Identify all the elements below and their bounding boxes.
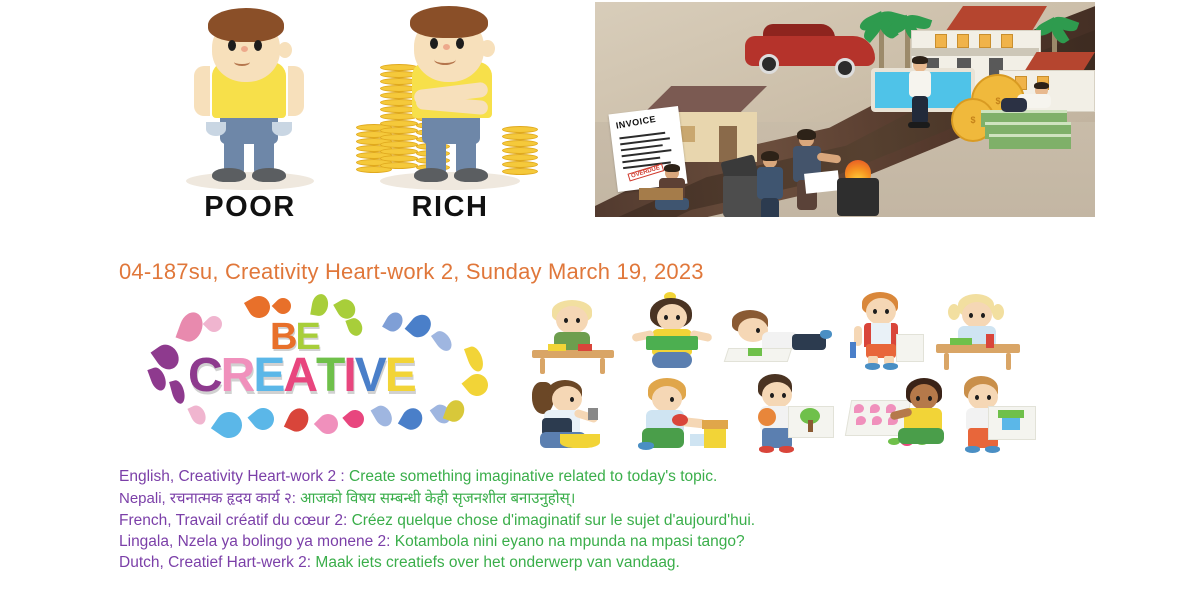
rich-shoe-left	[414, 168, 448, 182]
droplet-19	[284, 405, 312, 435]
poor-arm-right	[288, 66, 304, 116]
translation-line-french: French, Travail créatif du cœur 2: Créez…	[119, 510, 1119, 531]
language-label-french: French, Travail créatif du cœur 2:	[119, 512, 352, 529]
poor-hair	[208, 8, 284, 42]
droplet-20	[314, 410, 342, 438]
droplet-18	[248, 404, 279, 435]
bc-bot-letter-7: E	[385, 352, 415, 400]
droplet-10	[431, 328, 455, 354]
villa-window-1	[935, 34, 947, 48]
droplet-13	[169, 379, 187, 405]
droplet-1	[176, 309, 207, 345]
rich-label: RICH	[350, 191, 550, 224]
kid-top-5-table-craft	[936, 294, 1020, 370]
sentence-nepali: आजको विषय सम्बन्धी केही सृजनशील बनाउनुहो…	[300, 490, 575, 507]
translation-line-dutch: Dutch, Creatief Hart-werk 2: Maak iets c…	[119, 552, 1119, 573]
language-label-lingala: Lingala, Nzela ya bolingo ya monene 2:	[119, 533, 395, 550]
rich-eye-left	[430, 38, 438, 49]
sentence-dutch: Maak iets creatiefs over het onderwerp v…	[315, 554, 679, 571]
kid-bottom-4-paper-flowers	[848, 378, 944, 454]
rich-hair	[410, 6, 488, 38]
bc-bot-letter-5: I	[343, 352, 354, 400]
poor-figure: POOR	[150, 0, 350, 230]
droplet-16	[187, 403, 208, 427]
kid-bottom-1-cutting	[530, 378, 616, 454]
poor-shoe-right	[252, 168, 286, 182]
translation-line-english: English, Creativity Heart-work 2 : Creat…	[119, 466, 1119, 487]
car-wheel-rear	[835, 58, 855, 78]
poor-label: POOR	[150, 191, 350, 224]
bc-bot-letter-1: R	[221, 352, 254, 400]
droplet-23	[398, 404, 426, 433]
wooden-crate	[639, 188, 683, 200]
middle-illustration-row: BE CREATIVE	[0, 290, 1200, 460]
coin-stack-small-right	[502, 126, 538, 176]
language-label-english: English, Creativity Heart-work 2 :	[119, 468, 349, 485]
top-illustration-row: POOR	[0, 0, 1200, 232]
droplet-2	[203, 313, 226, 336]
droplet-4	[272, 295, 295, 318]
droplet-5	[310, 293, 330, 317]
bc-bot-letter-6: V	[355, 352, 385, 400]
poor-nose	[241, 46, 248, 52]
be-creative-graphic: BE CREATIVE	[140, 290, 520, 460]
oil-barrel	[837, 178, 879, 216]
poor-rich-illustration: POOR	[150, 0, 550, 230]
droplet-17	[211, 407, 247, 443]
droplet-22	[371, 402, 396, 429]
shack-door	[719, 126, 737, 162]
help-sign	[804, 170, 840, 193]
sentence-lingala: Kotambola nini eyano na mpunda na mpasi …	[395, 533, 745, 550]
poor-arm-left	[194, 66, 210, 116]
be-creative-word-bottom: CREATIVE	[188, 352, 415, 400]
poor-eye-left	[228, 40, 236, 51]
rich-eye-right	[456, 38, 464, 49]
poor-empty-pocket-right	[272, 122, 292, 136]
poor-eye-right	[254, 40, 262, 51]
translation-line-lingala: Lingala, Nzela ya bolingo ya monene 2: K…	[119, 531, 1119, 552]
villa-window-4	[1001, 34, 1013, 48]
kid-top-4-standing-drawing	[848, 290, 922, 370]
droplet-21	[342, 406, 367, 431]
rich-nose	[443, 44, 450, 50]
wealth-gap-illustration: $ $ INVOICE	[595, 2, 1095, 217]
droplet-15	[462, 370, 493, 401]
poor-empty-pocket-left	[206, 122, 226, 136]
page-root: POOR	[0, 0, 1200, 600]
rich-shoe-right	[454, 168, 488, 182]
bc-bot-letter-0: C	[188, 352, 221, 400]
villa-window-2	[957, 34, 969, 48]
kids-crafts-illustration	[530, 290, 1020, 460]
language-label-nepali: Nepali, रचनात्मक हृदय कार्य २:	[119, 490, 300, 507]
invoice-title: INVOICE	[615, 114, 657, 131]
translations-block: English, Creativity Heart-work 2 : Creat…	[119, 466, 1119, 573]
droplet-7	[345, 316, 364, 338]
poor-mouth	[234, 58, 250, 66]
translation-line-nepali: Nepali, रचनात्मक हृदय कार्य २: आजको विषय…	[119, 487, 1119, 510]
kid-top-1-clay-table	[530, 296, 616, 370]
bc-bot-letter-2: E	[253, 352, 283, 400]
kid-bottom-2-house-model	[634, 376, 726, 454]
kid-top-3-drawing-floor	[726, 310, 830, 370]
sentence-english: Create something imaginative related to …	[349, 468, 717, 485]
car-wheel-front	[759, 54, 779, 74]
rich-figure: RICH	[350, 0, 550, 230]
poor-ear	[278, 42, 292, 58]
bc-bot-letter-3: A	[283, 352, 316, 400]
poor-shadow	[186, 172, 314, 190]
droplet-14	[464, 344, 486, 373]
droplet-8	[382, 309, 406, 334]
page-title: 04-187su, Creativity Heart-work 2, Sunda…	[119, 259, 704, 285]
poor-shoe-left	[212, 168, 246, 182]
kid-top-2-paper-chain	[630, 292, 714, 370]
villa-window-3	[979, 34, 991, 48]
money-stack-3	[989, 134, 1071, 149]
kid-bottom-5-holding-drawing	[954, 376, 1026, 454]
bc-bot-letter-4: T	[316, 352, 343, 400]
villa-balcony	[911, 48, 1039, 56]
sentence-french: Créez quelque chose d'imaginatif sur le …	[352, 512, 756, 529]
rich-smile	[434, 54, 456, 65]
kid-bottom-3-tree-drawing	[746, 374, 830, 454]
language-label-dutch: Dutch, Creatief Hart-werk 2:	[119, 554, 315, 571]
